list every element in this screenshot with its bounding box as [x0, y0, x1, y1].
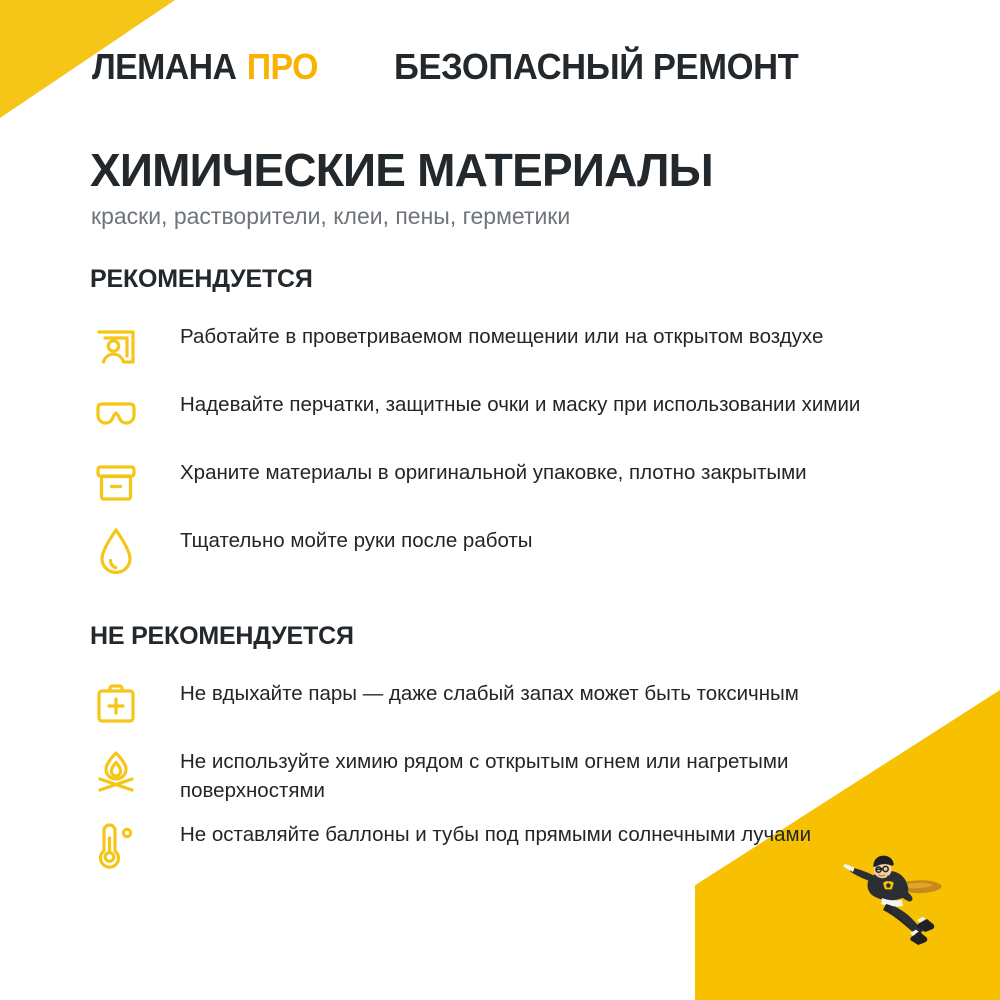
storage-box-icon: [90, 455, 142, 511]
list-item: Не оставляйте баллоны и тубы под прямыми…: [90, 815, 880, 873]
infographic-poster: ЛЕМАНА ПРО БЕЗОПАСНЫЙ РЕМОНТ ХИМИЧЕСКИЕ …: [0, 0, 1000, 1000]
list-item-label: Не вдыхайте пары — даже слабый запах мож…: [180, 674, 799, 708]
ventilated-window-icon: [90, 319, 142, 375]
campfire-icon: [90, 744, 142, 800]
list-item: Работайте в проветриваемом помещении или…: [90, 317, 860, 375]
page-subtitle: краски, растворители, клеи, пены, гермет…: [91, 203, 570, 230]
water-drop-icon: [90, 523, 142, 579]
list-item: Не вдыхайте пары — даже слабый запах мож…: [90, 674, 880, 732]
section-heading-not-recommended: НЕ РЕКОМЕНДУЕТСЯ: [90, 622, 880, 651]
first-aid-kit-icon: [90, 676, 142, 732]
list-item: Надевайте перчатки, защитные очки и маск…: [90, 385, 860, 443]
list-item: Тщательно мойте руки после работы: [90, 521, 860, 579]
header-title: БЕЗОПАСНЫЙ РЕМОНТ: [394, 46, 798, 88]
list-item: Храните материалы в оригинальной упаковк…: [90, 453, 860, 511]
logo-accent-text: ПРО: [247, 49, 318, 85]
list-item-label: Тщательно мойте руки после работы: [180, 521, 533, 555]
flying-superhero-mascot: [812, 838, 972, 958]
brand-logo: ЛЕМАНА ПРО: [92, 49, 318, 85]
list-item-label: Не оставляйте баллоны и тубы под прямыми…: [180, 815, 811, 849]
list-item: Не используйте химию рядом с открытым ог…: [90, 742, 880, 805]
page-title: ХИМИЧЕСКИЕ МАТЕРИАЛЫ: [90, 143, 713, 197]
logo-main-text: ЛЕМАНА: [92, 49, 236, 85]
section-recommended: РЕКОМЕНДУЕТСЯ Работайте в проветриваемом…: [90, 265, 860, 589]
safety-goggles-icon: [90, 387, 142, 443]
list-item-label: Храните материалы в оригинальной упаковк…: [180, 453, 807, 487]
list-item-label: Не используйте химию рядом с открытым ог…: [180, 742, 880, 805]
section-heading-recommended: РЕКОМЕНДУЕТСЯ: [90, 265, 860, 294]
list-item-label: Работайте в проветриваемом помещении или…: [180, 317, 823, 351]
thermometer-icon: [90, 817, 142, 873]
header: ЛЕМАНА ПРО БЕЗОПАСНЫЙ РЕМОНТ: [92, 40, 940, 94]
list-item-label: Надевайте перчатки, защитные очки и маск…: [180, 385, 860, 419]
section-not-recommended: НЕ РЕКОМЕНДУЕТСЯ Не вдыхайте пары — даже…: [90, 622, 880, 883]
